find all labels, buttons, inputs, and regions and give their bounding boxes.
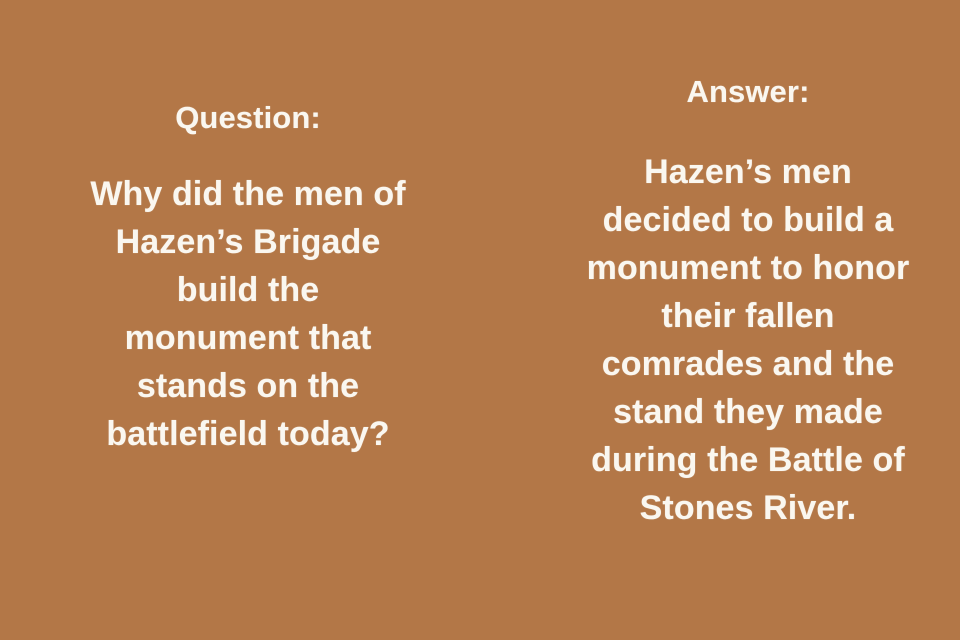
answer-line: their fallen	[548, 292, 948, 340]
answer-body: Hazen’s men decided to build a monument …	[548, 148, 948, 532]
answer-line: during the Battle of	[548, 436, 948, 484]
answer-line: Hazen’s men	[548, 148, 948, 196]
question-column: Question: Why did the men of Hazen’s Bri…	[48, 96, 448, 458]
question-heading-spacer	[48, 140, 448, 170]
slide-canvas: Question: Why did the men of Hazen’s Bri…	[0, 0, 960, 640]
answer-column: Answer: Hazen’s men decided to build a m…	[548, 70, 948, 532]
question-line: stands on the	[48, 362, 448, 410]
answer-heading-spacer	[548, 114, 948, 148]
question-heading: Question:	[48, 96, 448, 140]
answer-line: monument to honor	[548, 244, 948, 292]
answer-line: decided to build a	[548, 196, 948, 244]
question-line: Hazen’s Brigade	[48, 218, 448, 266]
answer-line: Stones River.	[548, 484, 948, 532]
answer-heading: Answer:	[548, 70, 948, 114]
question-line: battlefield today?	[48, 410, 448, 458]
answer-line: stand they made	[548, 388, 948, 436]
question-line: build the	[48, 266, 448, 314]
question-line: Why did the men of	[48, 170, 448, 218]
question-line: monument that	[48, 314, 448, 362]
answer-line: comrades and the	[548, 340, 948, 388]
question-body: Why did the men of Hazen’s Brigade build…	[48, 170, 448, 458]
